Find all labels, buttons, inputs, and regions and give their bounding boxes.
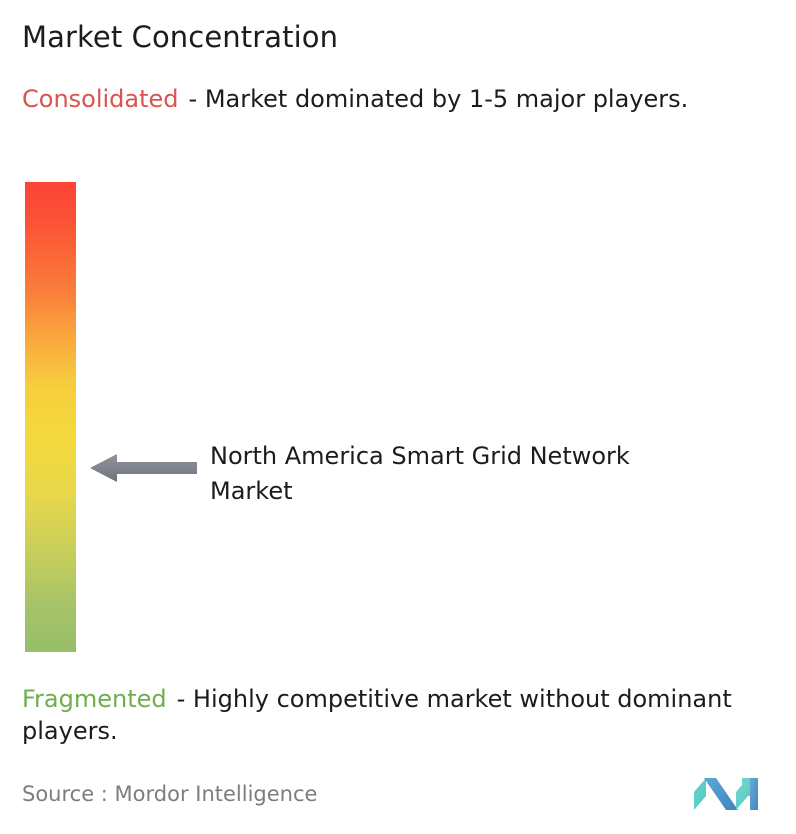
legend-key-consolidated: Consolidated bbox=[22, 85, 179, 113]
legend-key-fragmented: Fragmented bbox=[22, 685, 167, 713]
source-attribution: Source : Mordor Intelligence bbox=[22, 782, 317, 806]
market-concentration-infographic: Market Concentration Consolidated- Marke… bbox=[0, 0, 796, 834]
mordor-intelligence-logo bbox=[692, 770, 776, 818]
page-title: Market Concentration bbox=[22, 20, 338, 54]
legend-consolidated: Consolidated- Market dominated by 1-5 ma… bbox=[22, 84, 762, 116]
concentration-scale-bar bbox=[25, 182, 76, 652]
arrow-left-icon bbox=[90, 452, 197, 484]
callout-label: North America Smart Grid Network Market bbox=[210, 439, 640, 509]
legend-fragmented: Fragmented- Highly competitive market wi… bbox=[22, 684, 790, 747]
legend-description-consolidated: - Market dominated by 1-5 major players. bbox=[189, 85, 689, 113]
